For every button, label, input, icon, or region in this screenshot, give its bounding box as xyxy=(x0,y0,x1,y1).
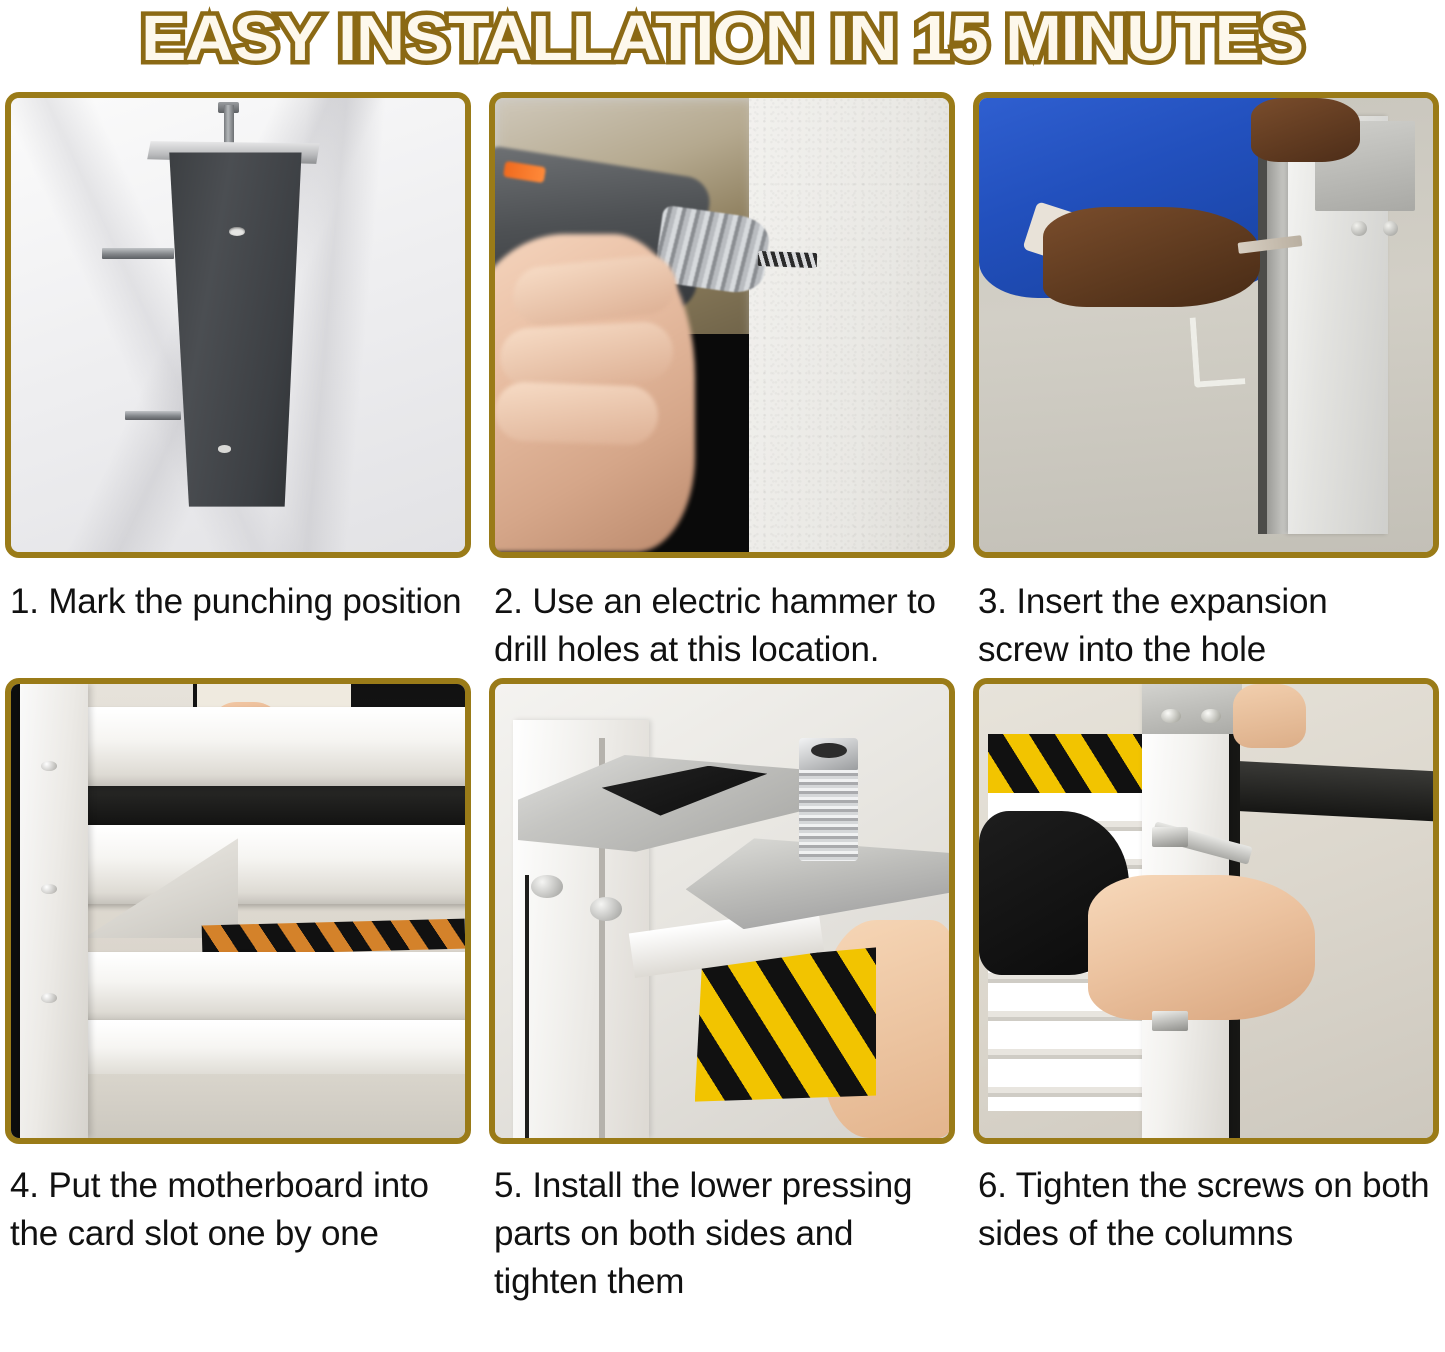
drill-bit xyxy=(758,251,817,268)
worker-forearm xyxy=(1043,207,1261,307)
post-bolt-upper xyxy=(102,248,175,259)
step-cell-2: 2. Use an electric hammer to drill holes… xyxy=(484,92,961,678)
step-photo-3-image xyxy=(979,98,1433,552)
column-black-groove xyxy=(525,875,529,1138)
barrier-board-3 xyxy=(75,952,465,1022)
board-gap-upper xyxy=(75,784,465,825)
step-photo-5-image xyxy=(495,684,949,1138)
bracket-screw-left xyxy=(531,875,563,899)
threaded-rod xyxy=(224,105,234,146)
column-side-face xyxy=(1267,107,1290,534)
column-bolt-upper xyxy=(1152,827,1188,847)
column-screw-left xyxy=(1351,221,1366,236)
step-photo-4 xyxy=(5,678,471,1144)
textured-white-wall xyxy=(749,98,949,552)
installation-steps-grid: 1. Mark the punching position 2. Use an … xyxy=(0,92,1445,1306)
page-title: EASY INSTALLATION IN 15 MINUTES xyxy=(142,2,1304,74)
hazard-stripe-panel xyxy=(988,734,1142,793)
step-caption-2: 2. Use an electric hammer to drill holes… xyxy=(484,558,961,678)
step-caption-3: 3. Insert the expansion screw into the h… xyxy=(968,558,1445,678)
step-photo-1 xyxy=(5,92,471,558)
barrier-board-2 xyxy=(75,825,465,904)
worker-second-hand xyxy=(1233,684,1306,748)
finger-middle xyxy=(498,321,673,389)
step-cell-4: 4. Put the motherboard into the card slo… xyxy=(0,678,477,1306)
step-photo-6 xyxy=(973,678,1439,1144)
step-photo-4-image xyxy=(11,684,465,1138)
step-photo-2-image xyxy=(495,98,949,552)
column-screw-bottom xyxy=(41,993,57,1003)
worker-upper-hand xyxy=(1251,98,1360,162)
step-cell-5: 5. Install the lower pressing parts on b… xyxy=(484,678,961,1306)
step-photo-2 xyxy=(489,92,955,558)
white-column-with-slot xyxy=(20,684,88,1138)
step-caption-4: 4. Put the motherboard into the card slo… xyxy=(0,1144,477,1264)
header-banner: EASY INSTALLATION IN 15 MINUTES xyxy=(0,0,1445,92)
allen-key-on-floor xyxy=(1190,314,1246,387)
hazard-stripe-panel xyxy=(695,947,877,1101)
dark-baseboard xyxy=(1228,760,1433,821)
column-top-plate xyxy=(1142,684,1242,734)
column-screw-top xyxy=(41,761,57,771)
top-plate-screw-left xyxy=(1161,709,1181,724)
step-caption-5: 5. Install the lower pressing parts on b… xyxy=(484,1144,961,1306)
step-photo-5 xyxy=(489,678,955,1144)
bracket-screw-right xyxy=(590,897,622,921)
worker-hand xyxy=(1088,875,1315,1020)
step-cell-1: 1. Mark the punching position xyxy=(0,92,477,678)
step-photo-6-image xyxy=(979,684,1433,1138)
step-photo-3 xyxy=(973,92,1439,558)
column-screw-middle xyxy=(41,884,57,894)
column-bolt-lower xyxy=(1152,1011,1188,1031)
post-bolt-lower xyxy=(125,411,182,420)
step-photo-1-image xyxy=(11,98,465,552)
step-cell-3: 3. Insert the expansion screw into the h… xyxy=(968,92,1445,678)
post-hole-lower xyxy=(218,445,231,452)
barrier-board-1 xyxy=(75,707,465,786)
finger-ring xyxy=(495,381,659,446)
step-caption-6: 6. Tighten the screws on both sides of t… xyxy=(968,1144,1445,1264)
step-cell-6: 6. Tighten the screws on both sides of t… xyxy=(968,678,1445,1306)
step-caption-1: 1. Mark the punching position xyxy=(0,558,477,678)
